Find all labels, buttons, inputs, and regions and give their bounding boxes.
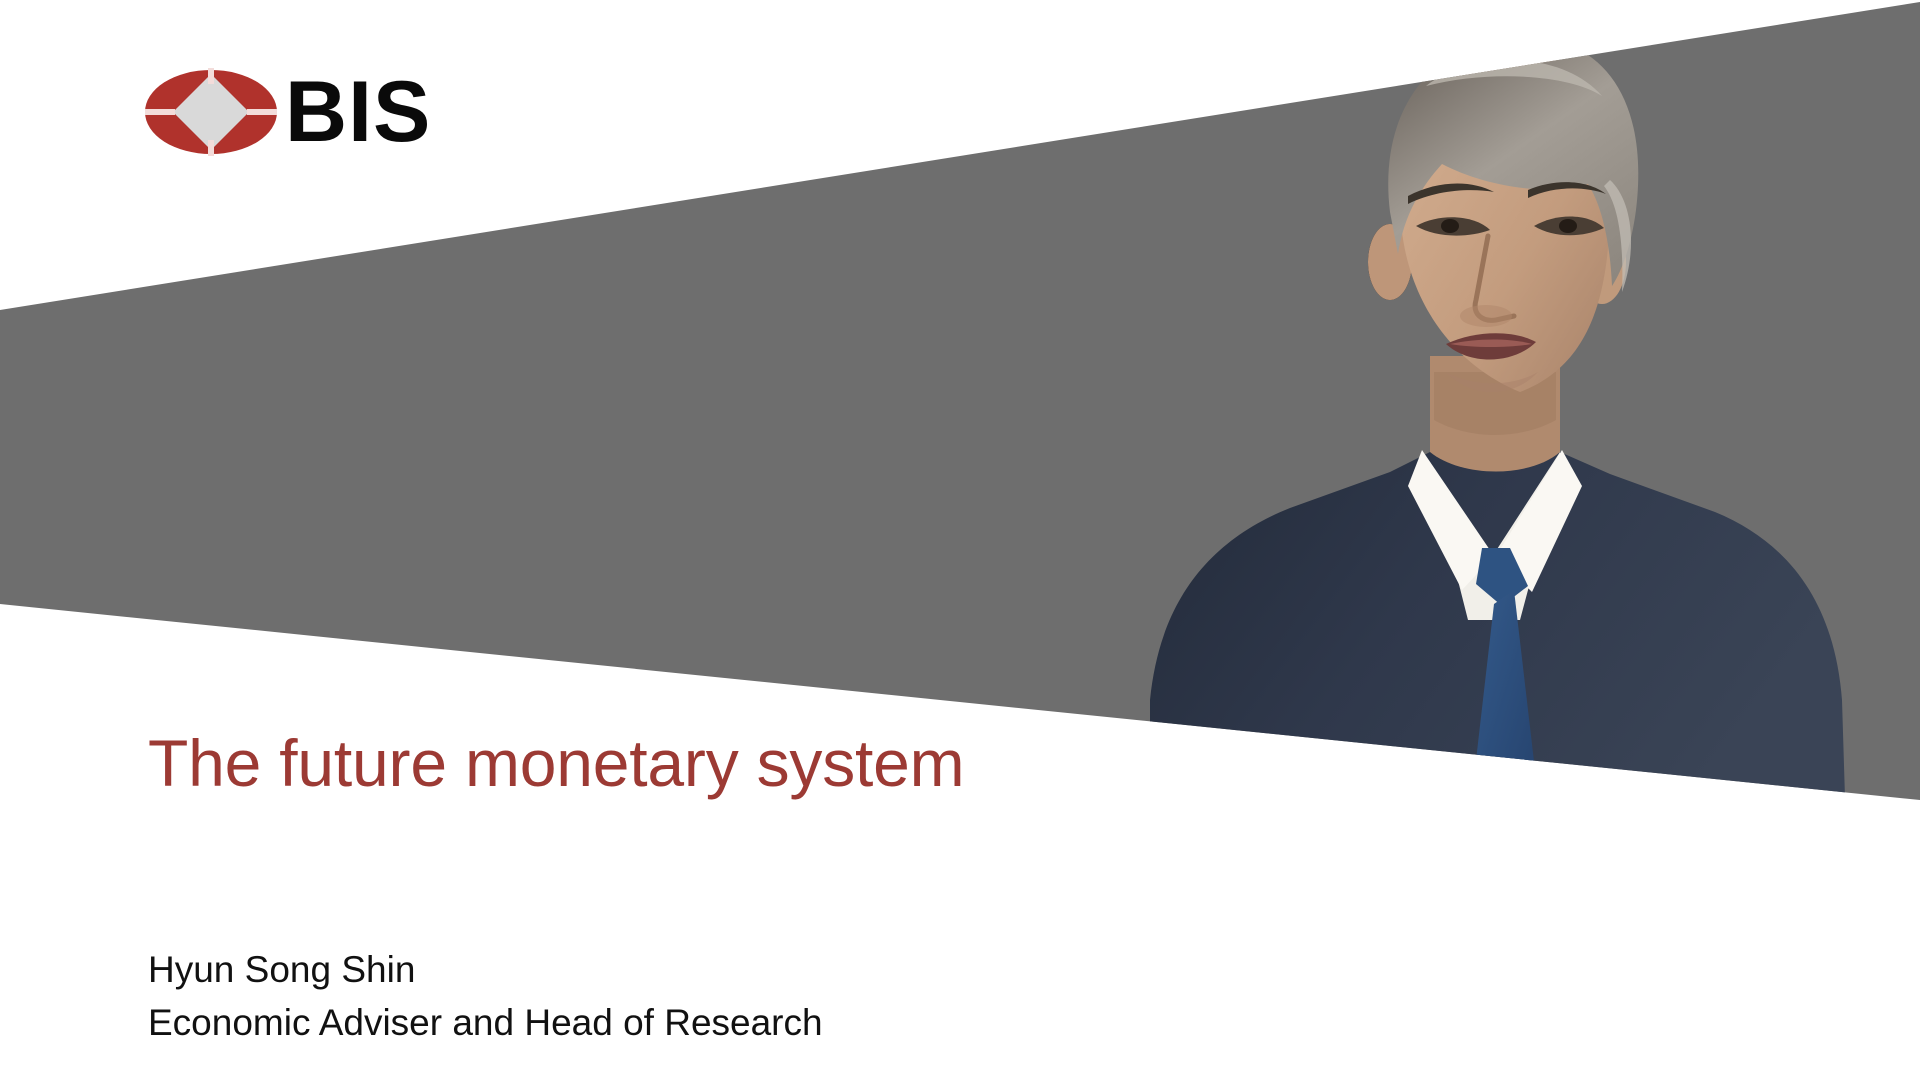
speaker-portrait	[1090, 0, 1920, 830]
speaker-byline: Hyun Song Shin Economic Adviser and Head…	[148, 944, 823, 1049]
speaker-role: Economic Adviser and Head of Research	[148, 997, 823, 1050]
bis-wordmark: BIS	[285, 69, 431, 155]
bis-logo: BIS	[143, 64, 431, 160]
title-slide: BIS The future monetary system Hyun Song…	[0, 0, 1920, 1080]
bis-ellipse-diamond-mark	[143, 66, 279, 158]
speaker-name: Hyun Song Shin	[148, 944, 823, 997]
page-title: The future monetary system	[148, 729, 964, 798]
